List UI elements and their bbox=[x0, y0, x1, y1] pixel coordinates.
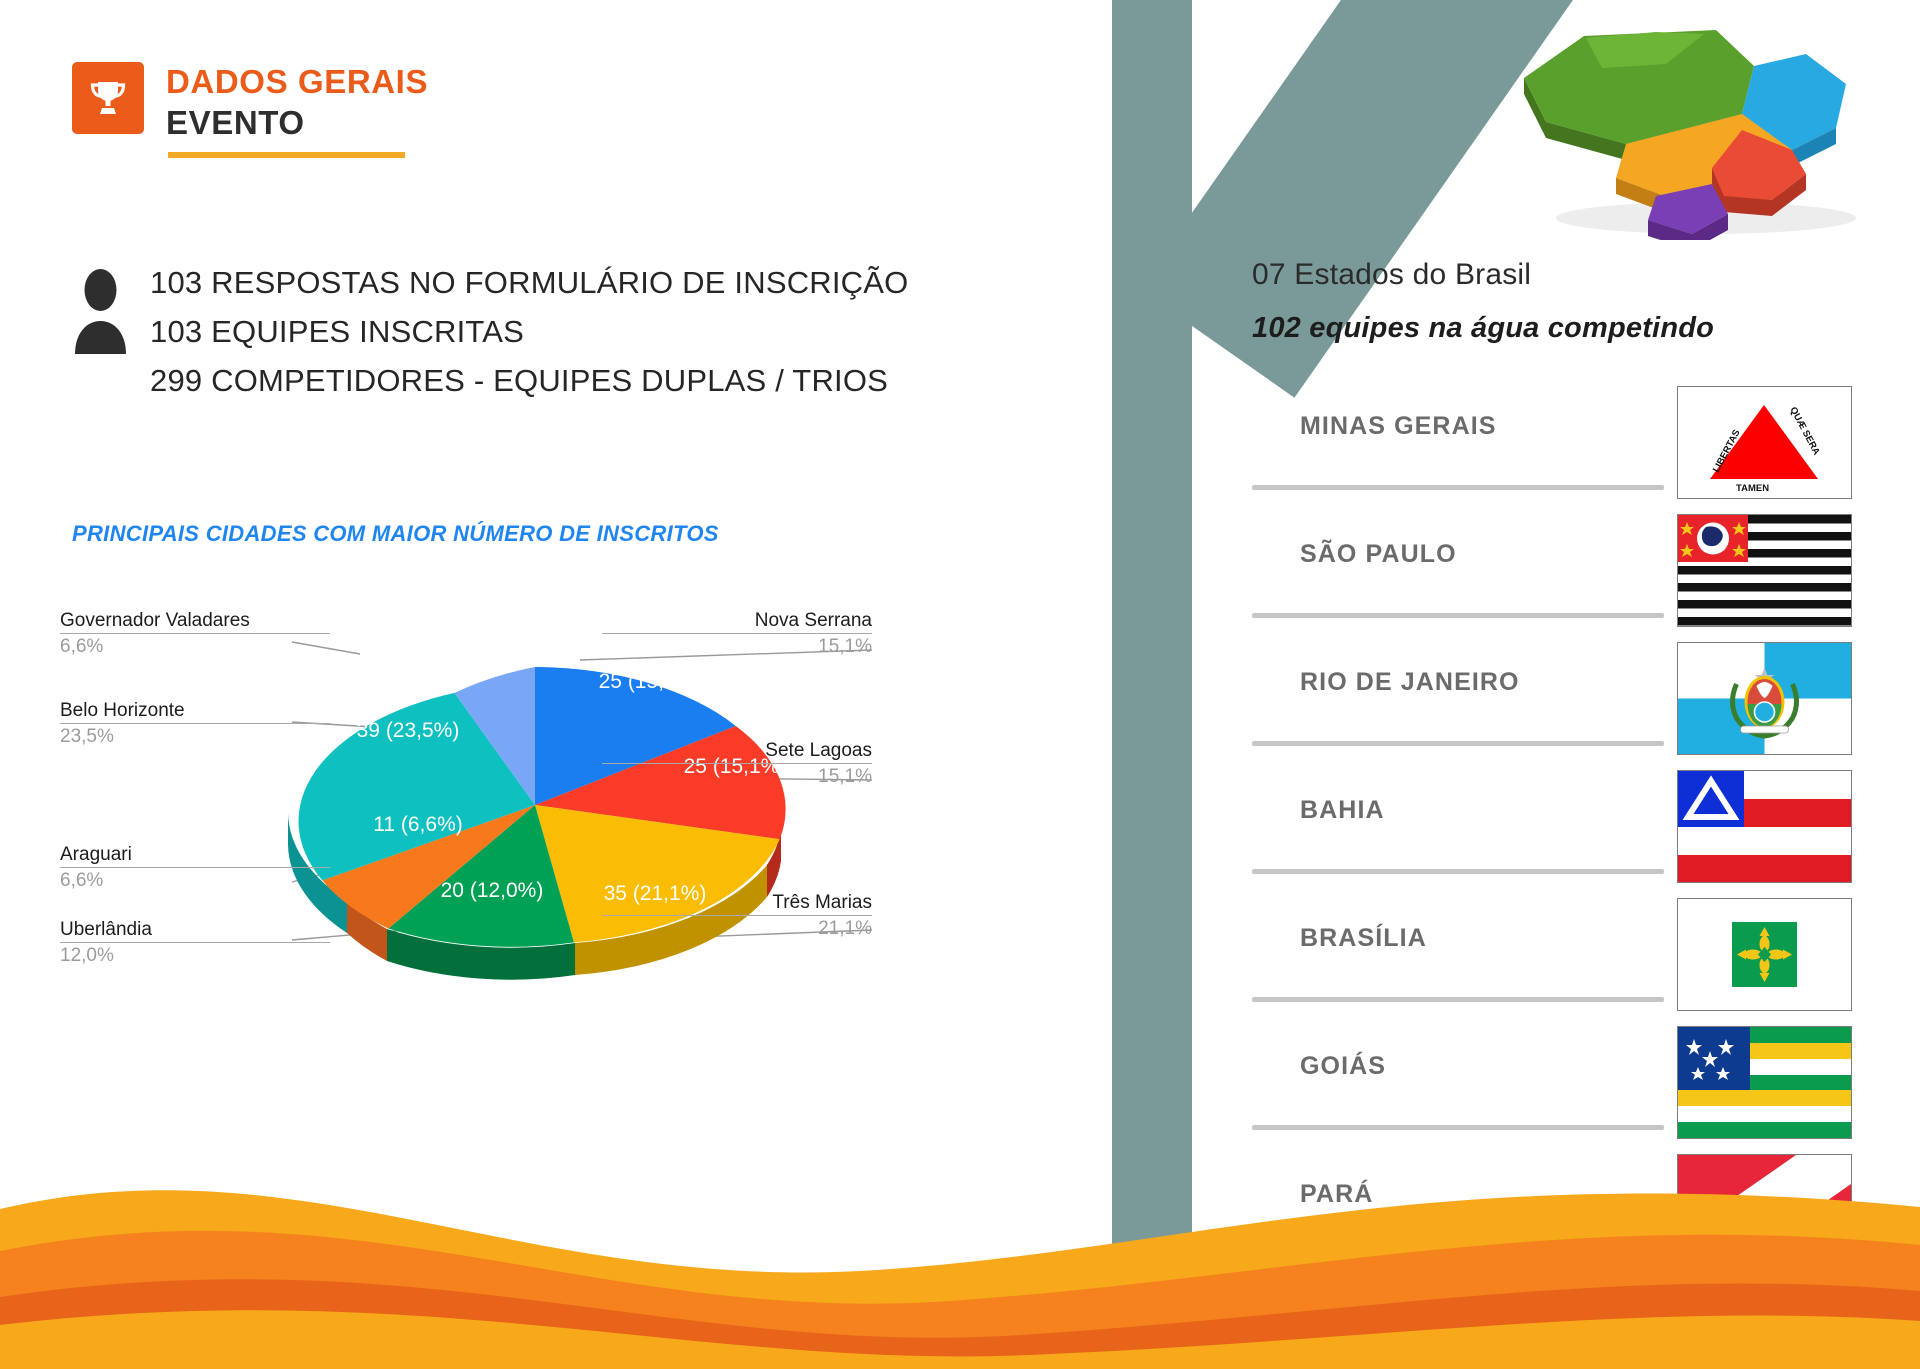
flag-rio-de-janeiro-icon bbox=[1677, 642, 1852, 755]
callout-percent: 12,0% bbox=[60, 943, 330, 969]
state-name: BRASÍLIA bbox=[1300, 924, 1427, 953]
state-rule bbox=[1252, 997, 1664, 1002]
callout-percent: 23,5% bbox=[60, 724, 330, 750]
svg-text:TAMEN: TAMEN bbox=[1736, 483, 1769, 494]
header-underline bbox=[168, 152, 405, 158]
state-row-sao-paulo[interactable]: SÃO PAULO bbox=[1252, 506, 1872, 634]
trophy-badge bbox=[72, 62, 144, 134]
state-rule bbox=[1252, 613, 1664, 618]
state-row-bahia[interactable]: BAHIA bbox=[1252, 762, 1872, 890]
flag-bahia-icon bbox=[1677, 770, 1852, 883]
callout-percent: 15,1% bbox=[602, 764, 872, 790]
slice-label-belo-horizonte: 39 (23,5%) bbox=[357, 719, 460, 742]
slice-label-nova-serrana: 25 (15,1%) bbox=[599, 670, 702, 693]
callout-name: Araguari bbox=[60, 842, 330, 867]
stat-line-responses: 103 RESPOSTAS NO FORMULÁRIO DE INSCRIÇÃO bbox=[150, 258, 908, 307]
slice-label-uberlandia: 20 (12,0%) bbox=[441, 879, 544, 902]
header-title-secondary: EVENTO bbox=[166, 102, 428, 144]
state-name: BAHIA bbox=[1300, 796, 1385, 825]
flag-brasilia-icon bbox=[1677, 898, 1852, 1011]
person-icon bbox=[73, 266, 128, 354]
state-name: SÃO PAULO bbox=[1300, 540, 1457, 569]
pie-chart-region: 25 (15,1%) 25 (15,1%) 35 (21,1%) 20 (12,… bbox=[60, 610, 1090, 1090]
callout-uberlandia: Uberlândia 12,0% bbox=[60, 917, 330, 969]
state-name: MINAS GERAIS bbox=[1300, 412, 1497, 441]
stat-line-competitors: 299 COMPETIDORES - EQUIPES DUPLAS / TRIO… bbox=[150, 356, 908, 405]
callout-name: Três Marias bbox=[602, 890, 872, 915]
callout-percent: 15,1% bbox=[602, 634, 872, 660]
flag-sao-paulo-icon bbox=[1677, 514, 1852, 627]
teams-competing-text: 102 equipes na água competindo bbox=[1252, 312, 1714, 345]
states-count-text: 07 Estados do Brasil bbox=[1252, 258, 1531, 292]
state-rule bbox=[1252, 741, 1664, 746]
state-row-brasilia[interactable]: BRASÍLIA bbox=[1252, 890, 1872, 1018]
callout-name: Governador Valadares bbox=[60, 608, 330, 633]
page-header: DADOS GERAIS EVENTO bbox=[72, 62, 428, 158]
trophy-icon bbox=[86, 76, 130, 120]
callout-araguari: Araguari 6,6% bbox=[60, 842, 330, 894]
callout-belo-horizonte: Belo Horizonte 23,5% bbox=[60, 698, 330, 750]
callout-nova-serrana: Nova Serrana 15,1% bbox=[602, 608, 872, 660]
infographic-page: DADOS GERAIS EVENTO 103 RESPOSTAS NO FOR… bbox=[0, 0, 1920, 1369]
stats-lines: 103 RESPOSTAS NO FORMULÁRIO DE INSCRIÇÃO… bbox=[150, 258, 908, 405]
callout-name: Belo Horizonte bbox=[60, 698, 330, 723]
state-rule bbox=[1252, 869, 1664, 874]
callout-percent: 21,1% bbox=[602, 916, 872, 942]
state-row-minas-gerais[interactable]: MINAS GERAIS LIBERTAS QUÆ SERA TAMEN bbox=[1252, 378, 1872, 506]
callout-sete-lagoas: Sete Lagoas 15,1% bbox=[602, 738, 872, 790]
slice-label-araguari: 11 (6,6%) bbox=[373, 813, 463, 836]
callout-percent: 6,6% bbox=[60, 868, 330, 894]
callout-name: Sete Lagoas bbox=[602, 738, 872, 763]
state-row-rio-de-janeiro[interactable]: RIO DE JANEIRO bbox=[1252, 634, 1872, 762]
flag-minas-gerais-icon: LIBERTAS QUÆ SERA TAMEN bbox=[1677, 386, 1852, 499]
callout-governador-valadares: Governador Valadares 6,6% bbox=[60, 608, 330, 660]
callout-tres-marias: Três Marias 21,1% bbox=[602, 890, 872, 942]
callout-name: Uberlândia bbox=[60, 917, 330, 942]
stats-block: 103 RESPOSTAS NO FORMULÁRIO DE INSCRIÇÃO… bbox=[73, 258, 908, 405]
chart-section-title: PRINCIPAIS CIDADES COM MAIOR NÚMERO DE I… bbox=[72, 521, 719, 547]
bottom-wave-decoration bbox=[0, 1039, 1920, 1369]
state-name: RIO DE JANEIRO bbox=[1300, 668, 1520, 697]
state-rule bbox=[1252, 485, 1664, 490]
header-title-primary: DADOS GERAIS bbox=[166, 62, 428, 102]
callout-name: Nova Serrana bbox=[602, 608, 872, 633]
callout-percent: 6,6% bbox=[60, 634, 330, 660]
stat-line-teams: 103 EQUIPES INSCRITAS bbox=[150, 307, 908, 356]
brazil-map-3d-icon bbox=[1500, 10, 1900, 240]
